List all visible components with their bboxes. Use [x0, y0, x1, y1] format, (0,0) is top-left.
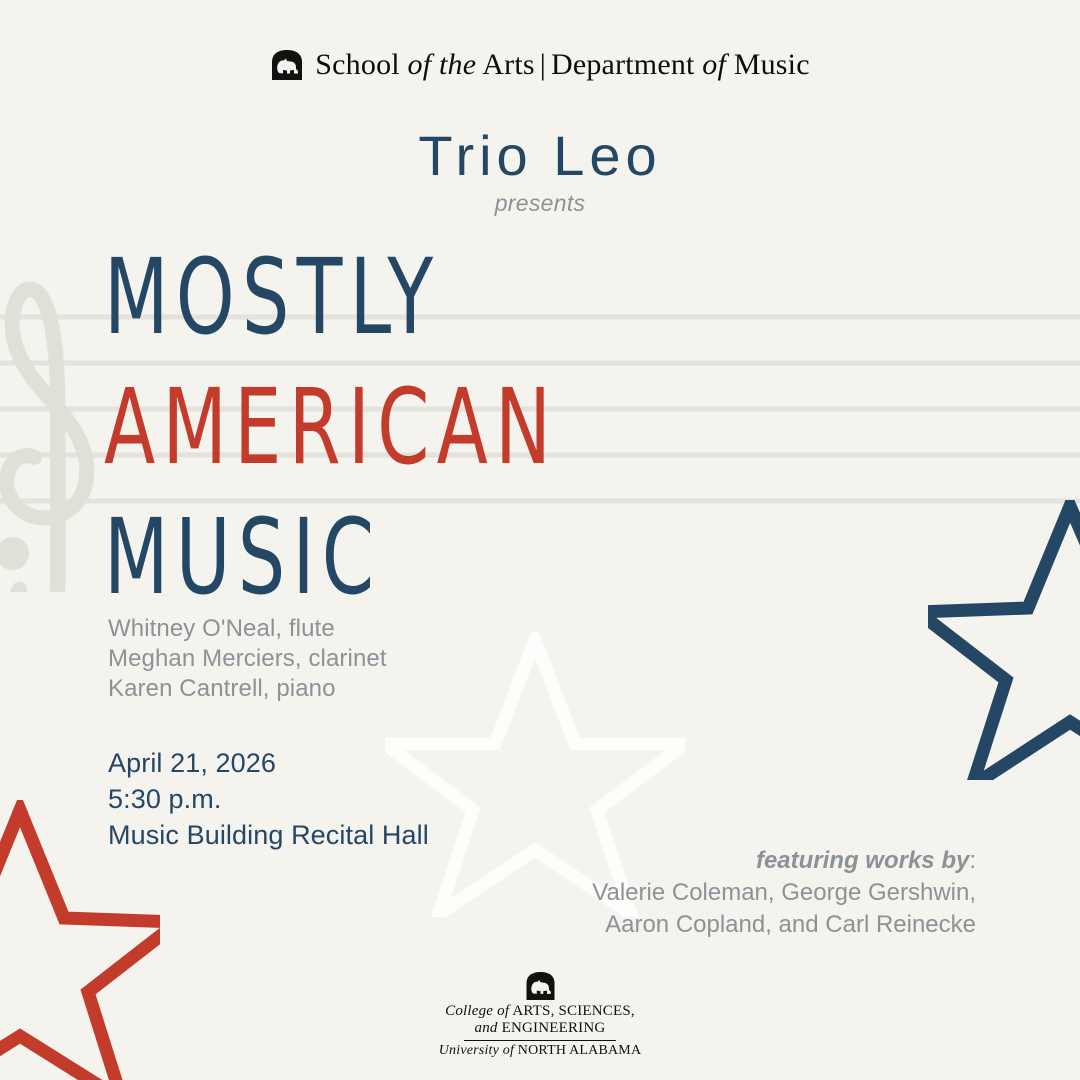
event-time: 5:30 p.m. [108, 781, 429, 817]
event-venue: Music Building Recital Hall [108, 817, 429, 853]
footer-university-place: NORTH ALABAMA [518, 1043, 642, 1058]
list-item: Aaron Copland, and Carl Reinecke [592, 909, 976, 941]
footer-university-of: of [503, 1043, 514, 1058]
footer-and-word: and [475, 1020, 498, 1036]
poster-title: MOSTLY AMERICAN MUSIC [104, 232, 804, 622]
footer-engineering: ENGINEERING [502, 1020, 606, 1036]
featuring-composers: Valerie Coleman, George Gershwin, Aaron … [592, 877, 976, 941]
ensemble-name: Trio Leo [0, 127, 1080, 186]
title-line-american: AMERICAN [104, 362, 664, 492]
footer-logo: College of ARTS, SCIENCES, and ENGINEERI… [0, 972, 1080, 1059]
header-lockup: School of the Arts|Department of Music [0, 48, 1080, 82]
list-item: Whitney O'Neal, flute [108, 614, 387, 644]
header-the: the [439, 48, 476, 81]
footer-of-word: of [497, 1003, 509, 1019]
footer-college-word: College [445, 1003, 493, 1019]
featuring-heading: featuring works by: [592, 845, 976, 877]
footer-divider [464, 1040, 616, 1041]
star-outline-navy [928, 500, 1080, 780]
header-of-1: of [408, 48, 432, 81]
title-line-mostly: MOSTLY [104, 232, 664, 362]
footer-college-line1: College of ARTS, SCIENCES, [445, 1003, 635, 1020]
footer-disciplines: ARTS, SCIENCES, [512, 1003, 635, 1019]
header-school: School [315, 48, 400, 81]
header-arts: Arts [482, 48, 534, 81]
featuring-label: featuring works by [756, 847, 969, 874]
event-date: April 21, 2026 [108, 745, 429, 781]
event-details: April 21, 2026 5:30 p.m. Music Building … [108, 745, 429, 853]
list-item: Karen Cantrell, piano [108, 674, 387, 704]
featuring-block: featuring works by: Valerie Coleman, Geo… [592, 845, 976, 941]
title-line-music: MUSIC [104, 492, 664, 622]
concert-poster: School of the Arts|Department of Music T… [0, 0, 1080, 1080]
header-divider: | [535, 48, 551, 81]
list-item: Valerie Coleman, George Gershwin, [592, 877, 976, 909]
footer-college-name: College of ARTS, SCIENCES, and ENGINEERI… [445, 1003, 635, 1037]
header-music: Music [734, 48, 810, 81]
header-wordmark: School of the Arts|Department of Music [315, 48, 809, 82]
list-item: Meghan Merciers, clarinet [108, 644, 387, 674]
lion-shield-icon [270, 50, 304, 80]
header-department: Department [551, 48, 695, 81]
footer-university-name: University of NORTH ALABAMA [439, 1043, 642, 1059]
featuring-colon: : [969, 847, 976, 874]
lion-shield-icon [524, 972, 557, 1000]
presents-label: presents [0, 190, 1080, 217]
performer-list: Whitney O'Neal, flute Meghan Merciers, c… [108, 614, 387, 704]
footer-university-word: University [439, 1043, 499, 1058]
header-of-2: of [702, 48, 726, 81]
footer-college-line2: and ENGINEERING [445, 1020, 635, 1037]
